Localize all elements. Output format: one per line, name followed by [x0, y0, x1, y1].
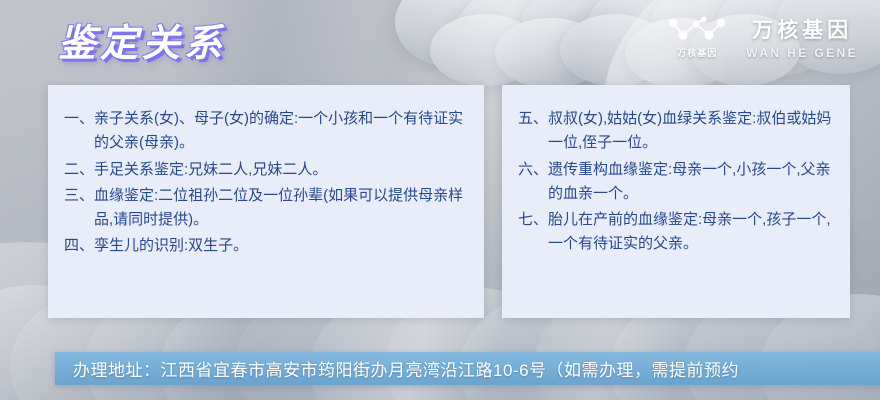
list-item-number: 二、	[64, 158, 94, 182]
list-item-number: 四、	[64, 234, 94, 258]
address-banner: 办理地址：江西省宜春市高安市筠阳街办月亮湾沿江路10-6号（如需办理，需提前预约	[55, 352, 880, 385]
molecule-network-icon	[666, 15, 728, 43]
list-item-text: 叔叔(女),姑姑(女)血绿关系鉴定:叔伯或姑妈一位,侄子一位。	[548, 107, 834, 156]
list-item-text: 手足关系鉴定:兄妹二人,兄妹二人。	[94, 158, 468, 182]
address-banner-text: 办理地址：江西省宜春市高安市筠阳街办月亮湾沿江路10-6号（如需办理，需提前预约	[73, 356, 739, 381]
list-item: 三、 血缘鉴定:二位祖孙二位及一位孙辈(如果可以提供母亲样品,请同时提供)。	[64, 184, 468, 233]
list-item-number: 五、	[518, 107, 548, 131]
list-item: 六、 遗传重构血缘鉴定:母亲一个,小孩一个,父亲的血亲一个。	[518, 158, 834, 207]
list-item: 一、 亲子关系(女)、母子(女)的确定:一个小孩和一个有待证实的父亲(母亲)。	[64, 107, 468, 156]
list-item-text: 血缘鉴定:二位祖孙二位及一位孙辈(如果可以提供母亲样品,请同时提供)。	[94, 184, 468, 233]
list-item-number: 三、	[64, 184, 94, 208]
list-item-text: 胎儿在产前的血缘鉴定:母亲一个,孩子一个,一个有待证实的父亲。	[548, 208, 834, 257]
list-item-number: 六、	[518, 158, 548, 182]
brand-name-cn: 万核基因	[752, 14, 852, 44]
brand-mark: 万核基因	[666, 15, 728, 59]
brand-mark-label: 万核基因	[677, 46, 717, 59]
brand-wordmark: 万核基因 WAN HE GENE	[746, 14, 858, 60]
panel-left: 一、 亲子关系(女)、母子(女)的确定:一个小孩和一个有待证实的父亲(母亲)。 …	[48, 85, 484, 318]
list-item-text: 遗传重构血缘鉴定:母亲一个,小孩一个,父亲的血亲一个。	[548, 158, 834, 207]
list-item: 四、 孪生儿的识别:双生子。	[64, 234, 468, 258]
brand-name-en: WAN HE GENE	[746, 46, 858, 60]
relationship-list-left: 一、 亲子关系(女)、母子(女)的确定:一个小孩和一个有待证实的父亲(母亲)。 …	[64, 107, 468, 259]
list-item: 七、 胎儿在产前的血缘鉴定:母亲一个,孩子一个,一个有待证实的父亲。	[518, 208, 834, 257]
list-item-number: 七、	[518, 208, 548, 232]
list-item-text: 孪生儿的识别:双生子。	[94, 234, 468, 258]
list-item-number: 一、	[64, 107, 94, 131]
list-item: 二、 手足关系鉴定:兄妹二人,兄妹二人。	[64, 158, 468, 182]
panel-right: 五、 叔叔(女),姑姑(女)血绿关系鉴定:叔伯或姑妈一位,侄子一位。 六、 遗传…	[502, 85, 850, 318]
list-item: 五、 叔叔(女),姑姑(女)血绿关系鉴定:叔伯或姑妈一位,侄子一位。	[518, 107, 834, 156]
page-title: 鉴定关系	[58, 12, 226, 67]
relationship-list-right: 五、 叔叔(女),姑姑(女)血绿关系鉴定:叔伯或姑妈一位,侄子一位。 六、 遗传…	[518, 107, 834, 257]
list-item-text: 亲子关系(女)、母子(女)的确定:一个小孩和一个有待证实的父亲(母亲)。	[94, 107, 468, 156]
brand-logo: 万核基因 万核基因 WAN HE GENE	[666, 14, 858, 60]
content-panels: 一、 亲子关系(女)、母子(女)的确定:一个小孩和一个有待证实的父亲(母亲)。 …	[48, 85, 850, 318]
